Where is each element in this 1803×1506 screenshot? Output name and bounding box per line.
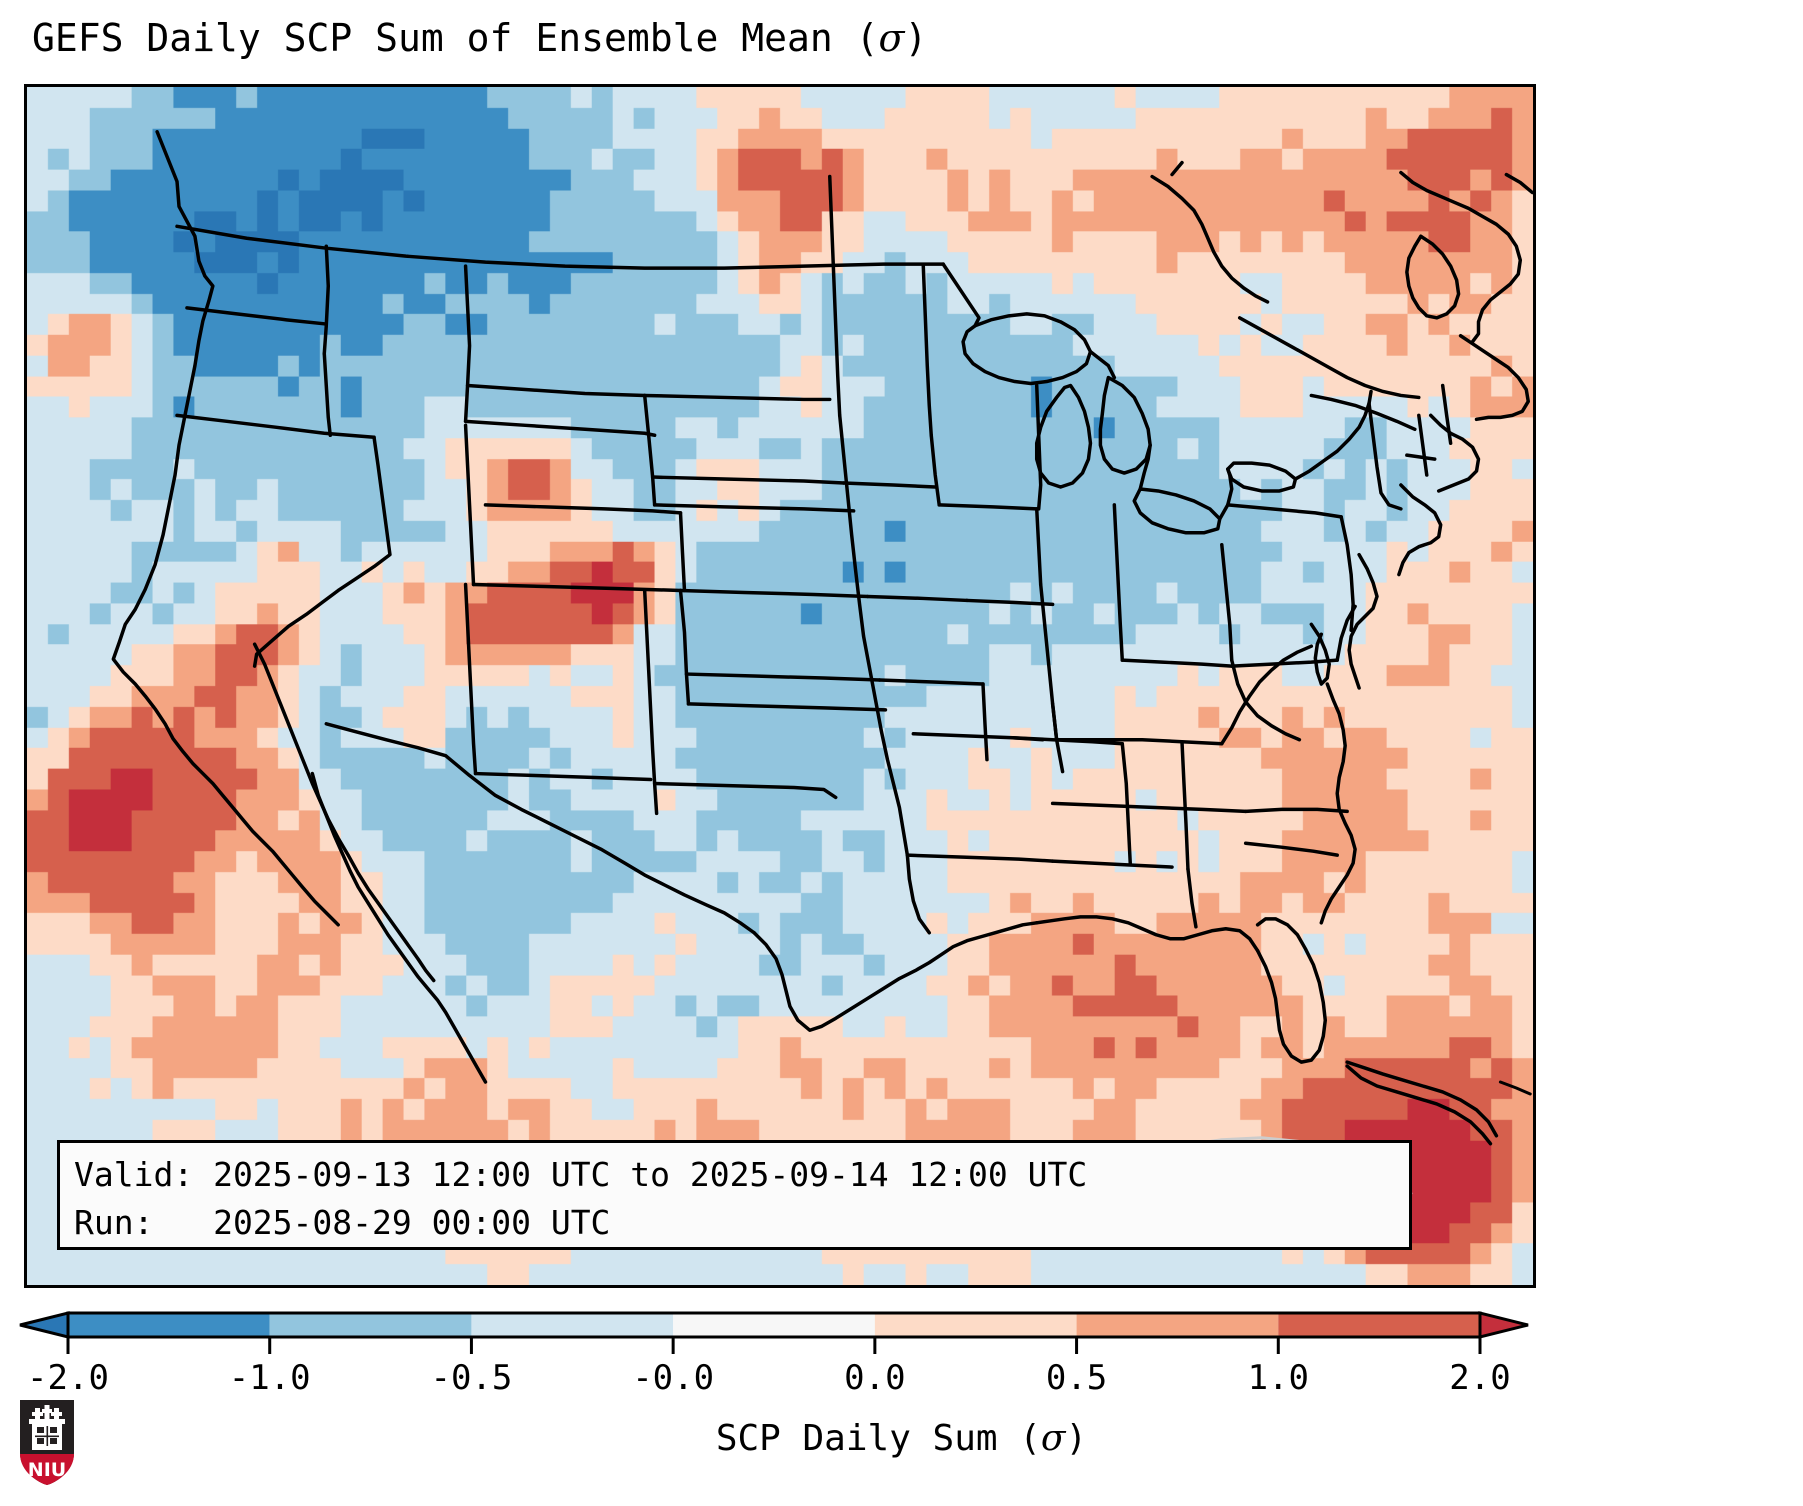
colorbar-tick-0: -2.0 xyxy=(27,1358,109,1398)
figure-root: GEFS Daily SCP Sum of Ensemble Mean (σ) … xyxy=(0,0,1803,1506)
map-axes[interactable] xyxy=(24,84,1536,1288)
valid-time-line: Valid: 2025-09-13 12:00 UTC to 2025-09-1… xyxy=(74,1151,1395,1199)
valid-run-annotation-box: Valid: 2025-09-13 12:00 UTC to 2025-09-1… xyxy=(57,1140,1412,1250)
page-title-suffix: ) xyxy=(904,16,927,60)
page-title-prefix: GEFS Daily SCP Sum of Ensemble Mean ( xyxy=(32,16,878,60)
colorbar-tick-2: -0.5 xyxy=(430,1358,512,1398)
colorbar-tick-6: 1.0 xyxy=(1248,1358,1309,1398)
niu-wordmark: NIU xyxy=(28,1459,66,1481)
colorbar-region[interactable]: -2.0-1.0-0.5-0.00.00.51.02.0 SCP Daily S… xyxy=(0,1300,1803,1506)
page-title: GEFS Daily SCP Sum of Ensemble Mean (σ) xyxy=(32,16,927,60)
colorbar-label-prefix: SCP Daily Sum ( xyxy=(716,1418,1041,1459)
colorbar-label: SCP Daily Sum (σ) xyxy=(0,1418,1803,1459)
castle-windows xyxy=(35,1426,59,1446)
map-geography-overlay xyxy=(27,87,1533,1285)
colorbar-tick-7: 2.0 xyxy=(1449,1358,1510,1398)
run-time-line: Run: 2025-08-29 00:00 UTC xyxy=(74,1199,1395,1247)
colorbar-tick-1: -1.0 xyxy=(229,1358,311,1398)
colorbar-tick-5: 0.5 xyxy=(1046,1358,1107,1398)
colorbar-tick-3: -0.0 xyxy=(632,1358,714,1398)
colorbar-label-suffix: ) xyxy=(1066,1418,1088,1459)
colorbar-tick-4: 0.0 xyxy=(844,1358,905,1398)
sigma-symbol: σ xyxy=(878,16,904,60)
colorbar-sigma-symbol: σ xyxy=(1041,1418,1066,1459)
niu-logo: NIU xyxy=(16,1396,78,1490)
